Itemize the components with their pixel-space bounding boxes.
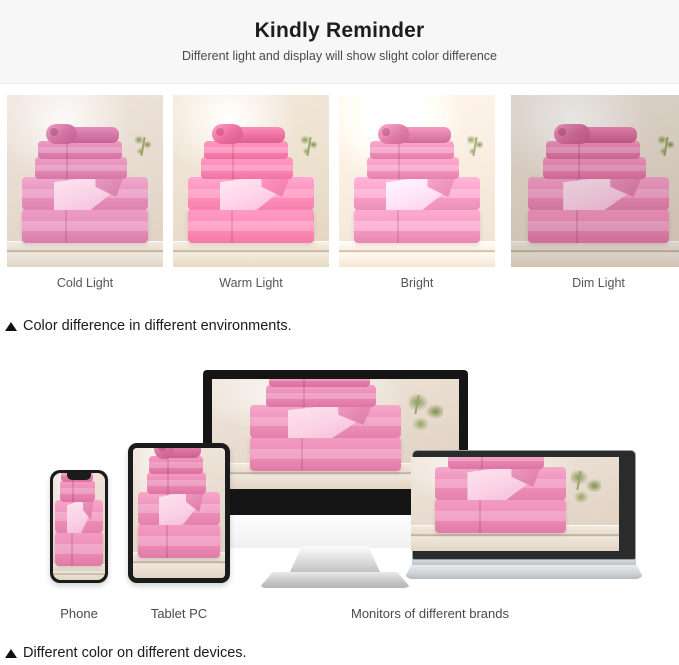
product-photo-phone	[53, 473, 105, 580]
towel-mid-2	[269, 379, 370, 387]
device-laptop	[404, 450, 644, 585]
photo-shelf	[173, 241, 329, 267]
label-dim-light: Dim Light	[511, 275, 679, 291]
photo-shelf	[511, 241, 679, 267]
towel-mid-1	[35, 157, 127, 179]
laptop-deck	[404, 565, 644, 579]
caption-devices-text: Different color on different devices.	[23, 645, 247, 661]
monitor-base	[259, 572, 411, 588]
towel-bottom-1	[55, 532, 103, 566]
tile-bright	[339, 95, 495, 267]
towel-mid-2	[38, 141, 122, 159]
product-photo-dim-light	[511, 95, 679, 267]
towel-stack	[351, 117, 482, 243]
product-photo-bright	[339, 95, 495, 267]
product-photo-warm-light	[173, 95, 329, 267]
towel-roll	[46, 124, 77, 144]
photo-shelf	[339, 241, 495, 267]
towel-bottom-1	[354, 209, 480, 243]
towel-roll	[212, 124, 243, 144]
phone-screen	[53, 473, 105, 580]
towel-bottom-1	[528, 209, 669, 243]
towel-bottom-1	[188, 209, 314, 243]
phone-notch	[67, 473, 91, 480]
photo-shelf	[53, 564, 105, 580]
towel-mid-1	[543, 157, 646, 179]
towel-mid-1	[367, 157, 459, 179]
towel-mid-2	[204, 141, 288, 159]
triangle-up-marker-icon	[5, 322, 17, 331]
towel-bottom-1	[250, 437, 402, 471]
product-photo-cold-light	[7, 95, 163, 267]
towel-mid-1	[60, 480, 95, 502]
towel-mid-1	[448, 457, 544, 469]
towel-mid-1	[147, 472, 206, 494]
device-showcase	[0, 360, 679, 610]
caption-environments-text: Color difference in different environmen…	[23, 318, 292, 334]
towel-mid-1	[201, 157, 293, 179]
tile-dim-light	[511, 95, 679, 267]
light-condition-labels: Cold Light Warm Light Bright Dim Light	[7, 275, 679, 295]
monitor-neck	[289, 546, 381, 574]
towel-mid-2	[546, 141, 640, 159]
device-labels: Phone Tablet PC Monitors of different br…	[0, 605, 679, 627]
device-phone	[50, 470, 108, 583]
towel-bottom-1	[138, 524, 219, 558]
label-bright: Bright	[339, 275, 495, 291]
photo-shelf	[7, 241, 163, 267]
towel-stack	[19, 117, 150, 243]
towel-stack	[247, 379, 405, 471]
towel-stack	[525, 117, 672, 243]
towel-stack	[432, 457, 569, 533]
page-subtitle: Different light and display will show sl…	[182, 50, 497, 63]
device-tablet	[128, 443, 230, 583]
label-monitors: Monitors of different brands	[330, 605, 530, 623]
towel-bottom-1	[22, 209, 148, 243]
caption-environments: Color difference in different environmen…	[5, 318, 292, 334]
label-warm-light: Warm Light	[173, 275, 329, 291]
product-photo-tablet	[133, 448, 225, 578]
plant-sprig-icon	[409, 393, 443, 435]
header-banner: Kindly Reminder Different light and disp…	[0, 0, 679, 84]
label-cold-light: Cold Light	[7, 275, 163, 291]
label-phone: Phone	[40, 605, 118, 623]
page-title: Kindly Reminder	[255, 20, 425, 41]
towel-bottom-1	[435, 499, 567, 533]
triangle-up-marker-icon	[5, 649, 17, 658]
light-condition-tiles	[7, 95, 679, 267]
label-tablet: Tablet PC	[132, 605, 226, 623]
towel-roll	[554, 124, 589, 144]
tablet-screen	[133, 448, 225, 578]
tile-cold-light	[7, 95, 163, 267]
product-photo-laptop	[411, 457, 619, 551]
towel-mid-1	[266, 385, 377, 407]
towel-stack	[185, 117, 316, 243]
towel-mid-2	[149, 456, 203, 474]
kindly-reminder-page: Kindly Reminder Different light and disp…	[0, 0, 679, 665]
towel-roll	[378, 124, 409, 144]
caption-devices: Different color on different devices.	[5, 645, 247, 661]
towel-stack	[137, 462, 222, 558]
towel-stack	[54, 484, 104, 566]
towel-mid-2	[370, 141, 454, 159]
laptop-screen	[411, 457, 619, 551]
plant-sprig-icon	[571, 469, 601, 507]
tile-warm-light	[173, 95, 329, 267]
